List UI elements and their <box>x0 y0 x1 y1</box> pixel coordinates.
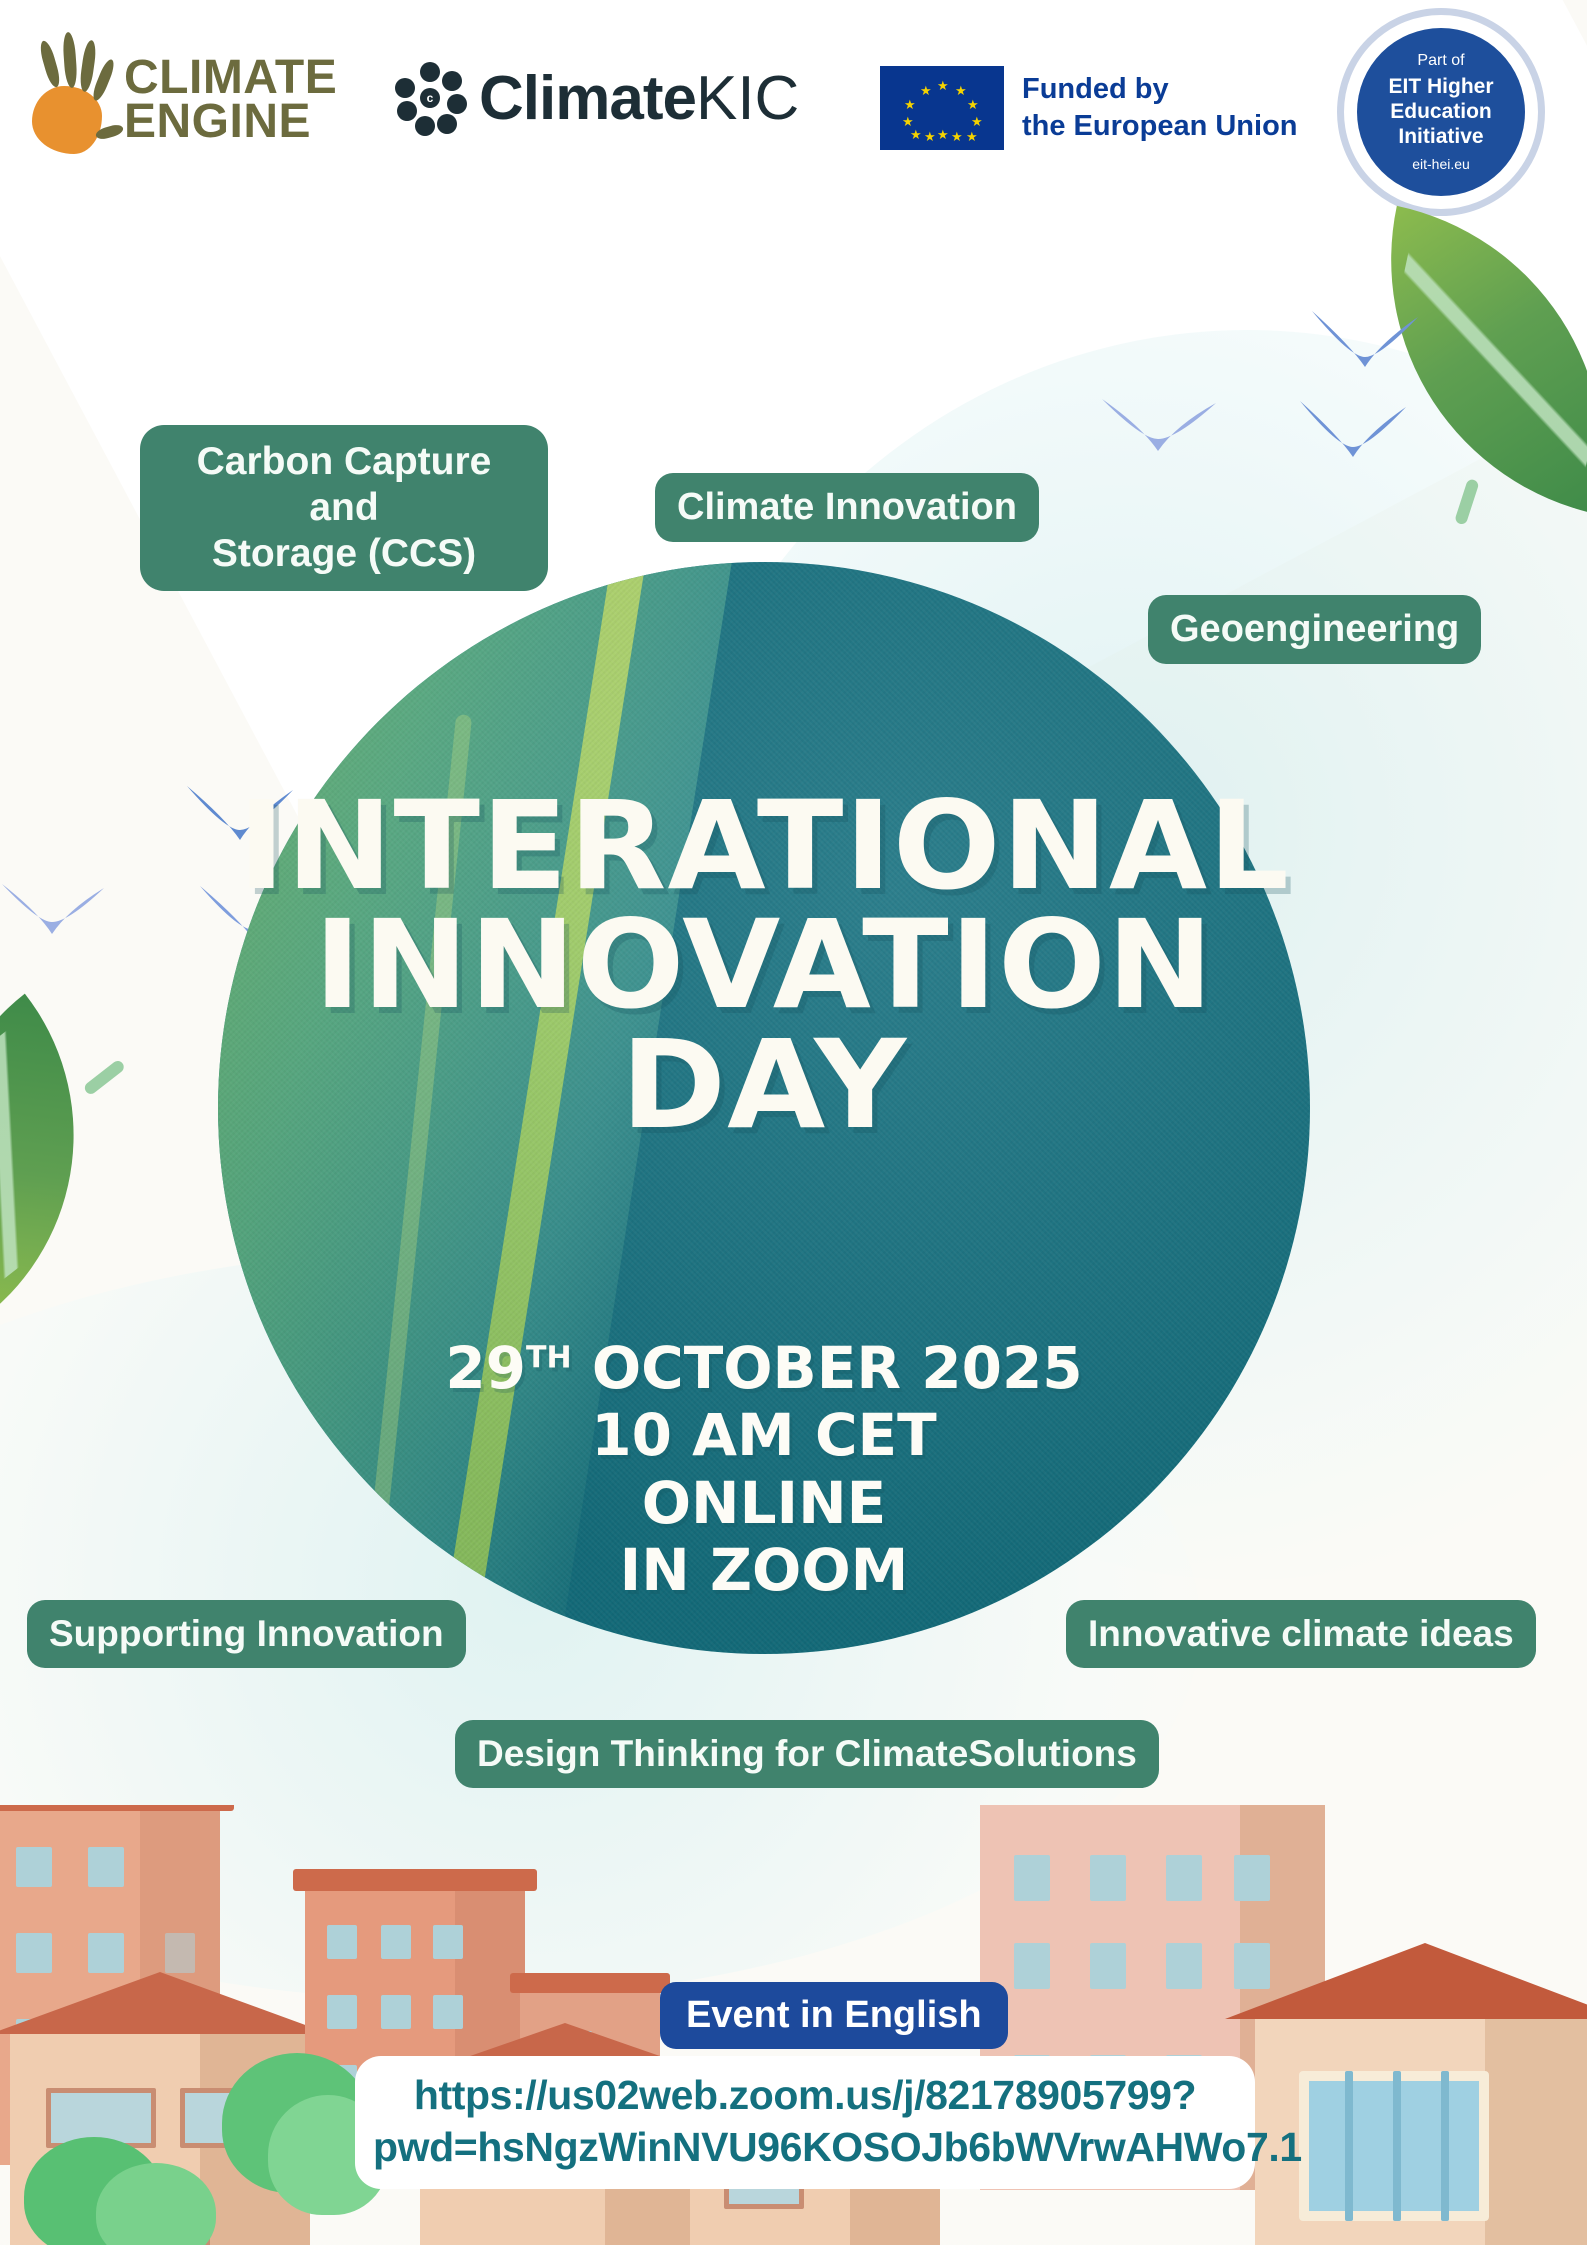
bird-icon <box>1100 395 1218 457</box>
climate-engine-line2: ENGINE <box>124 100 337 144</box>
tag-carbon-capture-line2: Storage (CCS) <box>166 531 522 577</box>
badge-event-language[interactable]: Event in English <box>660 1982 1008 2049</box>
eu-funding-line2: the European Union <box>1022 108 1298 145</box>
title-line-2: INNOVATION <box>196 909 1332 1022</box>
eit-part-of-label: Part of <box>1417 52 1464 70</box>
handprint-icon <box>18 30 128 170</box>
event-mode: ONLINE <box>218 1470 1310 1537</box>
title-line-1: INTERATIONAL <box>196 790 1332 903</box>
zoom-link-line1: https://us02web.zoom.us/j/82178905799? <box>414 2072 1196 2118</box>
handprint-finger <box>62 32 78 89</box>
climate-kic-wordmark: ClimateKIC <box>479 63 799 134</box>
logo-climate-kic: c ClimateKIC <box>395 62 799 134</box>
tag-supporting-innovation[interactable]: Supporting Innovation <box>27 1600 466 1668</box>
eit-title-line3: Initiative <box>1398 125 1483 150</box>
event-date-day: 29 <box>445 1334 526 1402</box>
bird-icon <box>1298 395 1408 465</box>
climate-engine-wordmark: CLIMATE ENGINE <box>124 56 337 144</box>
tag-carbon-capture-line1: Carbon Capture and <box>197 440 492 529</box>
event-time: 10 AM CET <box>218 1402 1310 1469</box>
header-logo-bar: CLIMATE ENGINE c ClimateKIC ★ ★ <box>0 0 1587 230</box>
event-date: 29TH OCTOBER 2025 <box>218 1335 1310 1402</box>
poster-title: INTERATIONAL INNOVATION DAY <box>218 790 1310 1142</box>
eit-url-label: eit-hei.eu <box>1412 156 1470 172</box>
logo-climate-engine: CLIMATE ENGINE <box>18 30 337 170</box>
event-details: 29TH OCTOBER 2025 10 AM CET ONLINE IN ZO… <box>218 1335 1310 1604</box>
tag-geoengineering[interactable]: Geoengineering <box>1148 595 1481 664</box>
eit-badge-inner: Part of EIT Higher Education Initiative … <box>1357 28 1525 196</box>
poster-root: CLIMATE ENGINE c ClimateKIC ★ ★ <box>0 0 1587 2245</box>
zoom-link-line2: pwd=hsNgzWinNVU96KOSOJb6bWVrwAHWo7.1 <box>373 2122 1237 2174</box>
title-line-3: DAY <box>196 1029 1332 1142</box>
handprint-palm <box>32 86 102 154</box>
tag-innovative-climate-ideas[interactable]: Innovative climate ideas <box>1066 1600 1536 1668</box>
logo-eit-hei-badge: Part of EIT Higher Education Initiative … <box>1337 8 1545 216</box>
building <box>1255 2015 1587 2245</box>
event-date-ordinal: TH <box>526 1341 572 1376</box>
handprint-finger <box>38 39 63 88</box>
tag-carbon-capture[interactable]: Carbon Capture and Storage (CCS) <box>140 425 548 591</box>
kic-center-dot: c <box>420 88 440 108</box>
tag-climate-innovation[interactable]: Climate Innovation <box>655 473 1039 542</box>
tag-design-thinking[interactable]: Design Thinking for ClimateSolutions <box>455 1720 1159 1788</box>
eu-funding-text: Funded by the European Union <box>1022 71 1298 145</box>
zoom-meeting-link[interactable]: https://us02web.zoom.us/j/82178905799? p… <box>355 2056 1255 2189</box>
bird-icon <box>1310 305 1420 375</box>
eit-title-line1: EIT Higher <box>1388 75 1493 100</box>
eit-title-line2: Education <box>1390 100 1492 125</box>
kic-flower-icon: c <box>395 62 465 134</box>
event-date-rest: OCTOBER 2025 <box>572 1334 1083 1402</box>
logo-eu-funding: ★ ★ ★ ★ ★ ★ ★ ★ ★ ★ ★ ★ Funded by the Eu… <box>880 66 1298 150</box>
kic-word-climate: Climate <box>479 64 696 133</box>
bird-icon <box>0 880 106 940</box>
kic-word-kic: KIC <box>696 64 799 133</box>
event-platform: IN ZOOM <box>218 1537 1310 1604</box>
eu-flag-icon: ★ ★ ★ ★ ★ ★ ★ ★ ★ ★ ★ ★ <box>880 66 1004 150</box>
eu-funding-line1: Funded by <box>1022 71 1298 108</box>
